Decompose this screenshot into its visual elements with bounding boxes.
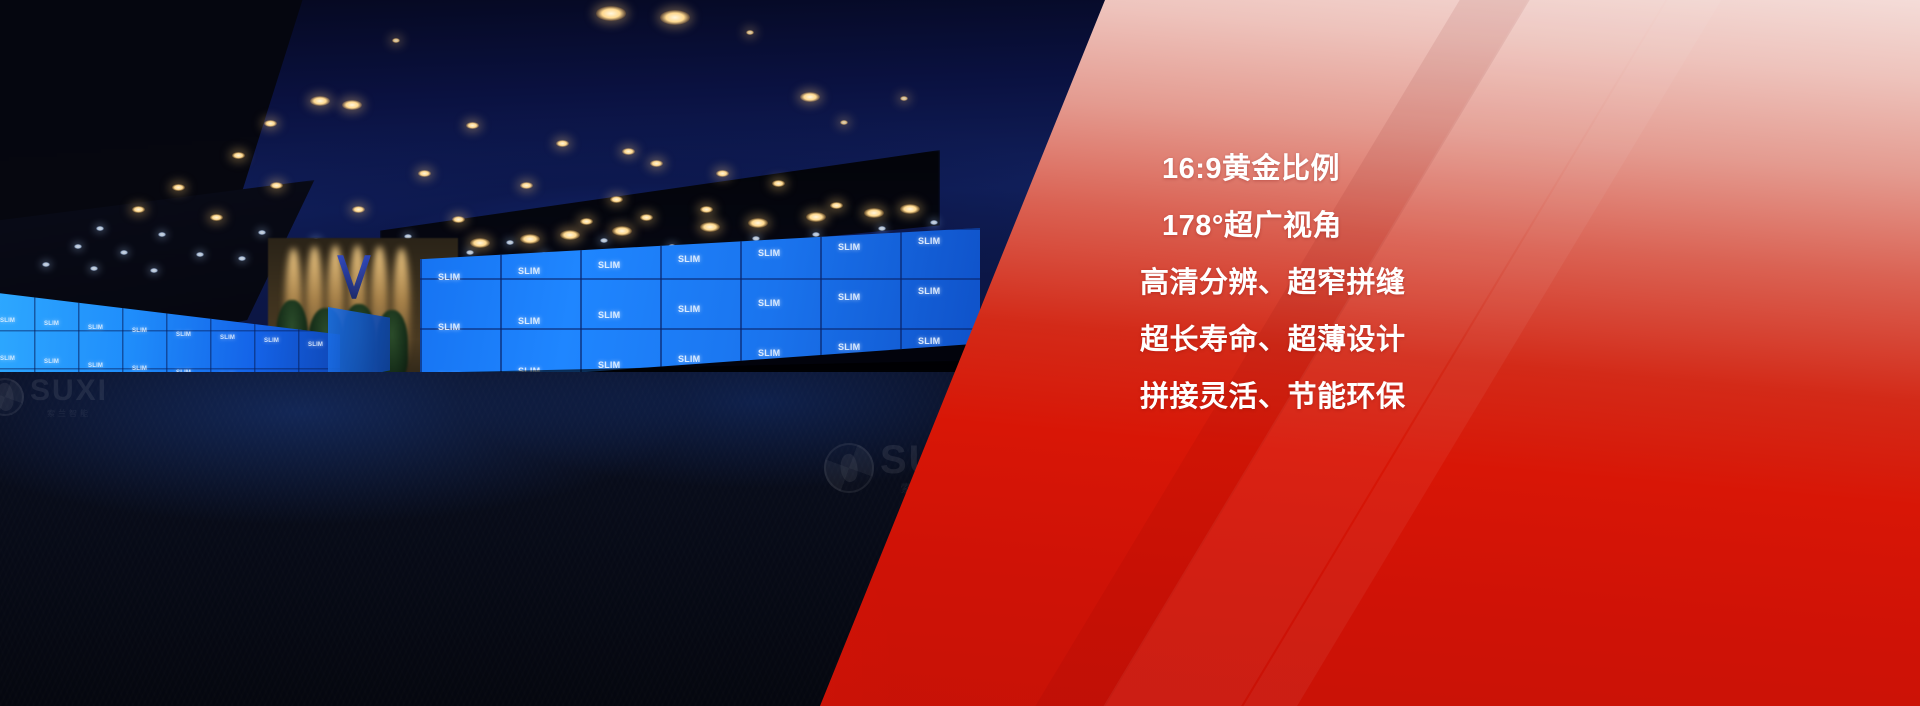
screen-slim-logo: SLIM [598,260,620,270]
ceiling-downlight [878,226,886,231]
ceiling-downlight [506,240,514,245]
product-banner: SLIMSLIMSLIMSLIMSLIMSLIMSLIMSLIMSLIMSLIM… [0,0,1920,706]
ceiling-downlight [342,100,362,110]
ceiling-downlight [716,170,729,177]
screen-slim-logo: SLIM [220,335,235,341]
ceiling-downlight [700,206,713,213]
ceiling-downlight [520,234,540,244]
feature-line-viewing-angle: 178°超广视角 [1140,212,1780,241]
feature-list: 16:9黄金比例 178°超广视角 高清分辨、超窄拼缝 超长寿命、超薄设计 拼接… [1140,155,1780,412]
screen-slim-logo: SLIM [838,342,860,352]
ceiling-downlight [74,244,82,249]
ceiling-downlight [42,262,50,267]
screen-slim-logo: SLIM [132,328,147,334]
ceiling-downlight [452,216,465,223]
screen-slim-logo: SLIM [264,338,279,344]
ceiling-downlight [258,230,266,235]
ceiling-downlight [596,6,626,21]
screen-slim-logo: SLIM [758,298,780,308]
feature-line-resolution-bezel: 高清分辨、超窄拼缝 [1140,269,1780,298]
ceiling-downlight [560,230,580,240]
ceiling-downlight [812,232,820,237]
screen-slim-logo: SLIM [678,254,700,264]
ceiling-downlight [264,120,277,127]
ceiling-downlight [800,92,820,102]
screen-slim-logo: SLIM [918,336,940,346]
screen-slim-logo: SLIM [44,321,59,327]
screen-slim-logo: SLIM [918,236,940,246]
screen-slim-logo: SLIM [0,356,15,362]
ceiling-downlight [930,220,938,225]
screen-slim-logo: SLIM [758,348,780,358]
ceiling-downlight [120,250,128,255]
ceiling-downlight [700,222,720,232]
ceiling-downlight [830,202,843,209]
screen-slim-logo: SLIM [438,322,460,332]
screen-slim-logo: SLIM [0,318,15,324]
ceiling-downlight [864,208,884,218]
ceiling-downlight [806,212,826,222]
ceiling-downlight [640,214,653,221]
screen-slim-logo: SLIM [308,342,323,348]
feature-line-aspect-ratio: 16:9黄金比例 [1140,155,1780,184]
screen-slim-logo: SLIM [918,286,940,296]
screen-slim-logo: SLIM [88,325,103,331]
ceiling-downlight [900,96,908,101]
ceiling-downlight [466,122,479,129]
ceiling-downlight [158,232,166,237]
screen-slim-logo: SLIM [678,304,700,314]
ceiling-downlight [520,182,533,189]
ceiling-downlight [210,214,223,221]
screen-slim-logo: SLIM [176,332,191,338]
screen-slim-logo: SLIM [44,359,59,365]
ceiling-downlight [650,160,663,167]
ceiling-downlight [196,252,204,257]
ceiling-downlight [610,196,623,203]
screen-slim-logo: SLIM [88,363,103,369]
ceiling-downlight [238,256,246,261]
ceiling-downlight [466,250,474,255]
ceiling-downlight [580,218,593,225]
ceiling-downlight [172,184,185,191]
ceiling-downlight [418,170,431,177]
ceiling-downlight [612,226,632,236]
screen-slim-logo: SLIM [518,266,540,276]
ceiling-downlight [470,238,490,248]
ceiling-downlight [600,238,608,243]
ceiling-downlight [900,204,920,214]
screen-slim-logo: SLIM [598,310,620,320]
ceiling-downlight [556,140,569,147]
ceiling-downlight [660,10,690,25]
ceiling-downlight [772,180,785,187]
ceiling-downlight [270,182,283,189]
ceiling-downlight [90,266,98,271]
feature-line-lifespan-design: 超长寿命、超薄设计 [1140,326,1780,355]
ceiling-downlight [96,226,104,231]
ceiling-downlight [310,96,330,106]
screen-slim-logo: SLIM [678,354,700,364]
screen-slim-logo: SLIM [518,316,540,326]
ceiling-downlight [352,206,365,213]
ceiling-downlight [840,120,848,125]
ceiling-downlight [752,236,760,241]
screen-slim-logo: SLIM [758,248,780,258]
screen-slim-logo: SLIM [838,292,860,302]
ceiling-downlight [622,148,635,155]
screen-slim-logo: SLIM [838,242,860,252]
screen-slim-logo: SLIM [438,272,460,282]
ceiling-downlight [132,206,145,213]
ceiling-downlight [746,30,754,35]
feature-line-flexible-eco: 拼接灵活、节能环保 [1140,383,1780,412]
ceiling-downlight [232,152,245,159]
ceiling-downlight [150,268,158,273]
ceiling-downlight [748,218,768,228]
ceiling-downlight [392,38,400,43]
